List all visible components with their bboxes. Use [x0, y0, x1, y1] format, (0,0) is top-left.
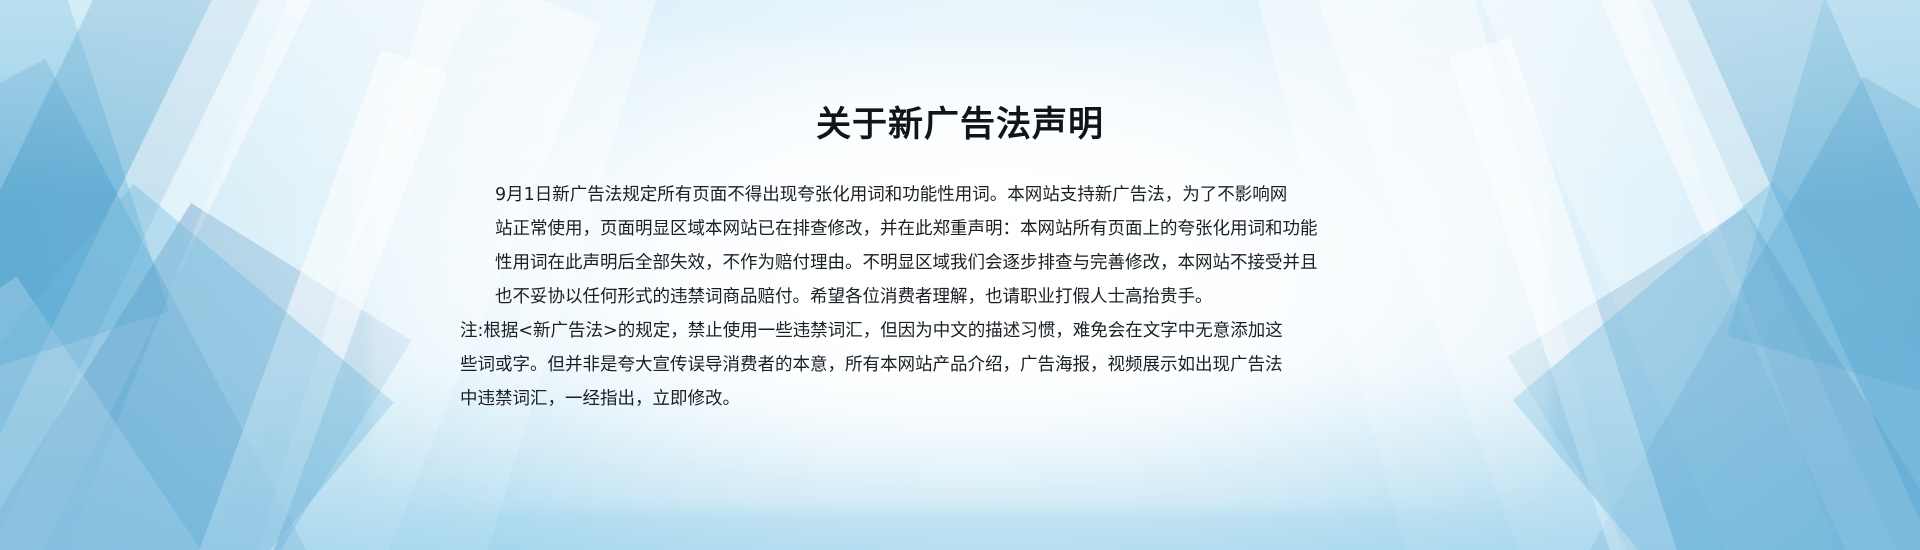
statement-line: 注:根据<新广告法>的规定，禁止使用一些违禁词汇，但因为中文的描述习惯，难免会在… [460, 314, 1440, 348]
statement-paragraph-2: 注:根据<新广告法>的规定，禁止使用一些违禁词汇，但因为中文的描述习惯，难免会在… [460, 314, 1440, 416]
statement-paragraph-1: 9月1日新广告法规定所有页面不得出现夸张化用词和功能性用词。本网站支持新广告法，… [460, 178, 1440, 314]
statement-line: 些词或字。但并非是夸大宣传误导消费者的本意，所有本网站产品介绍，广告海报，视频展… [460, 348, 1440, 382]
page-title: 关于新广告法声明 [0, 96, 1920, 147]
statement-line: 9月1日新广告法规定所有页面不得出现夸张化用词和功能性用词。本网站支持新广告法，… [460, 178, 1440, 212]
announcement-content: 关于新广告法声明 9月1日新广告法规定所有页面不得出现夸张化用词和功能性用词。本… [0, 0, 1920, 550]
announcement-banner: 关于新广告法声明 9月1日新广告法规定所有页面不得出现夸张化用词和功能性用词。本… [0, 0, 1920, 550]
statement-line: 中违禁词汇，一经指出，立即修改。 [460, 382, 1440, 416]
statement-line: 也不妥协以任何形式的违禁词商品赔付。希望各位消费者理解，也请职业打假人士高抬贵手… [460, 280, 1440, 314]
statement-body: 9月1日新广告法规定所有页面不得出现夸张化用词和功能性用词。本网站支持新广告法，… [460, 178, 1440, 416]
statement-line: 性用词在此声明后全部失效，不作为赔付理由。不明显区域我们会逐步排查与完善修改，本… [460, 246, 1440, 280]
statement-line: 站正常使用，页面明显区域本网站已在排查修改，并在此郑重声明：本网站所有页面上的夸… [460, 212, 1440, 246]
